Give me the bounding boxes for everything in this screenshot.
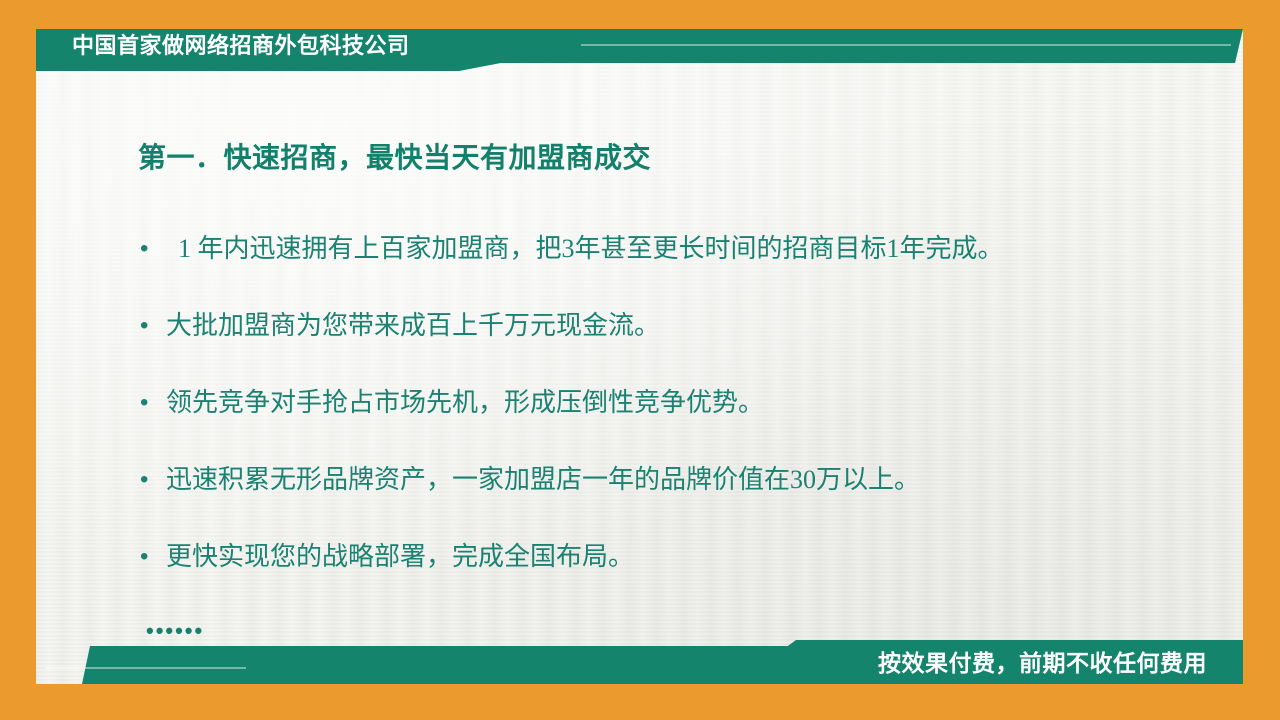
list-item-text: 领先竞争对手抢占市场先机，形成压倒性竞争优势。: [166, 386, 764, 420]
header-ribbon: 中国首家做网络招商外包科技公司: [36, 29, 1243, 75]
footer-tagline: 按效果付费，前期不收任何费用: [878, 646, 1207, 680]
list-item-text: 更快实现您的战略部署，完成全国布局。: [166, 540, 634, 574]
bullet-marker-icon: •: [140, 463, 166, 497]
page-title: 第一．快速招商，最快当天有加盟商成交: [138, 136, 651, 176]
list-item-text: 1 年内迅速拥有上百家加盟商，把3年甚至更长时间的招商目标1年完成。: [166, 232, 1004, 266]
footer-hairline-rule: [46, 667, 246, 669]
frame-edge-bottom: [0, 684, 1280, 720]
bullet-list: • 1 年内迅速拥有上百家加盟商，把3年甚至更长时间的招商目标1年完成。 • 大…: [140, 232, 1210, 617]
bullet-marker-icon: •: [140, 309, 166, 343]
list-item-text: 大批加盟商为您带来成百上千万元现金流。: [166, 309, 660, 343]
header-hairline-rule: [581, 44, 1231, 46]
list-item: • 大批加盟商为您带来成百上千万元现金流。: [140, 309, 1210, 386]
slide-canvas: 中国首家做网络招商外包科技公司 第一．快速招商，最快当天有加盟商成交 • 1 年…: [0, 0, 1280, 720]
bullet-marker-icon: •: [140, 540, 166, 574]
list-item-text: 迅速积累无形品牌资产，一家加盟店一年的品牌价值在30万以上。: [166, 463, 920, 497]
footer-ribbon: 按效果付费，前期不收任何费用: [36, 640, 1243, 688]
header-title: 中国首家做网络招商外包科技公司: [72, 30, 410, 62]
bullet-marker-icon: •: [140, 232, 166, 266]
frame-edge-top: [0, 0, 1280, 29]
list-item: • 迅速积累无形品牌资产，一家加盟店一年的品牌价值在30万以上。: [140, 463, 1210, 540]
frame-edge-left: [0, 0, 36, 720]
frame-edge-right: [1243, 0, 1280, 720]
list-item: • 1 年内迅速拥有上百家加盟商，把3年甚至更长时间的招商目标1年完成。: [140, 232, 1210, 309]
list-item: • 更快实现您的战略部署，完成全国布局。: [140, 540, 1210, 617]
list-item: • 领先竞争对手抢占市场先机，形成压倒性竞争优势。: [140, 386, 1210, 463]
bullet-marker-icon: •: [140, 386, 166, 420]
header-tail-shape: [36, 62, 506, 71]
